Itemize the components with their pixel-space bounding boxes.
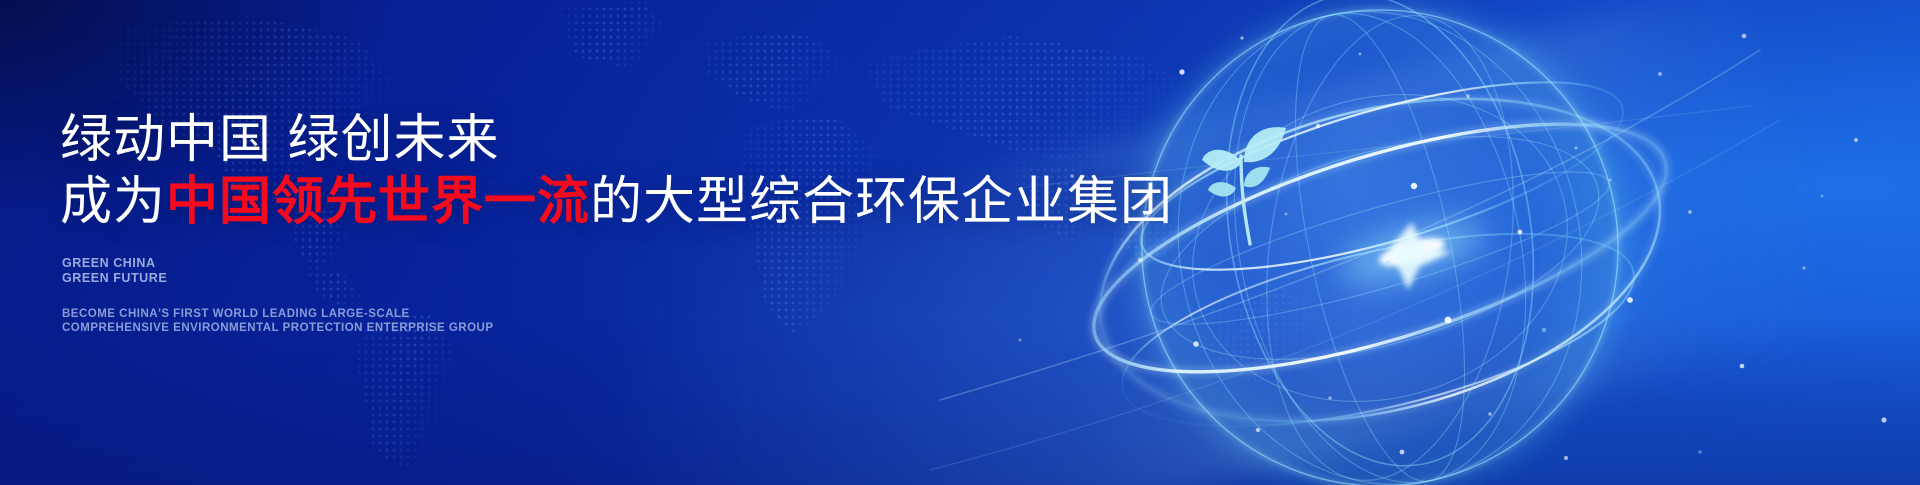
description-english: BECOME CHINA'S FIRST WORLD LEADING LARGE… (62, 307, 494, 335)
description-line-1: BECOME CHINA'S FIRST WORLD LEADING LARGE… (62, 307, 494, 321)
headline-line-2-prefix: 成为 (60, 173, 166, 231)
page-title: 绿动中国 绿创未来 成为中国领先世界一流的大型综合环保企业集团 (60, 109, 1173, 233)
subtitle-english: GREEN CHINA GREEN FUTURE (62, 256, 167, 286)
subtitle-line-1: GREEN CHINA (62, 256, 167, 271)
subtitle-line-2: GREEN FUTURE (62, 271, 167, 286)
headline-line-1: 绿动中国 绿创未来 (60, 111, 499, 169)
headline-line-2: 成为中国领先世界一流的大型综合环保企业集团 (60, 171, 1173, 233)
copy-block: 绿动中国 绿创未来 成为中国领先世界一流的大型综合环保企业集团 GREEN CH… (60, 0, 1120, 485)
headline-line-2-highlight: 中国领先世界一流 (166, 173, 590, 231)
hero-banner: 绿动中国 绿创未来 成为中国领先世界一流的大型综合环保企业集团 GREEN CH… (0, 0, 1920, 485)
headline-line-2-suffix: 的大型综合环保企业集团 (590, 173, 1173, 231)
description-line-2: COMPREHENSIVE ENVIRONMENTAL PROTECTION E… (62, 321, 494, 335)
